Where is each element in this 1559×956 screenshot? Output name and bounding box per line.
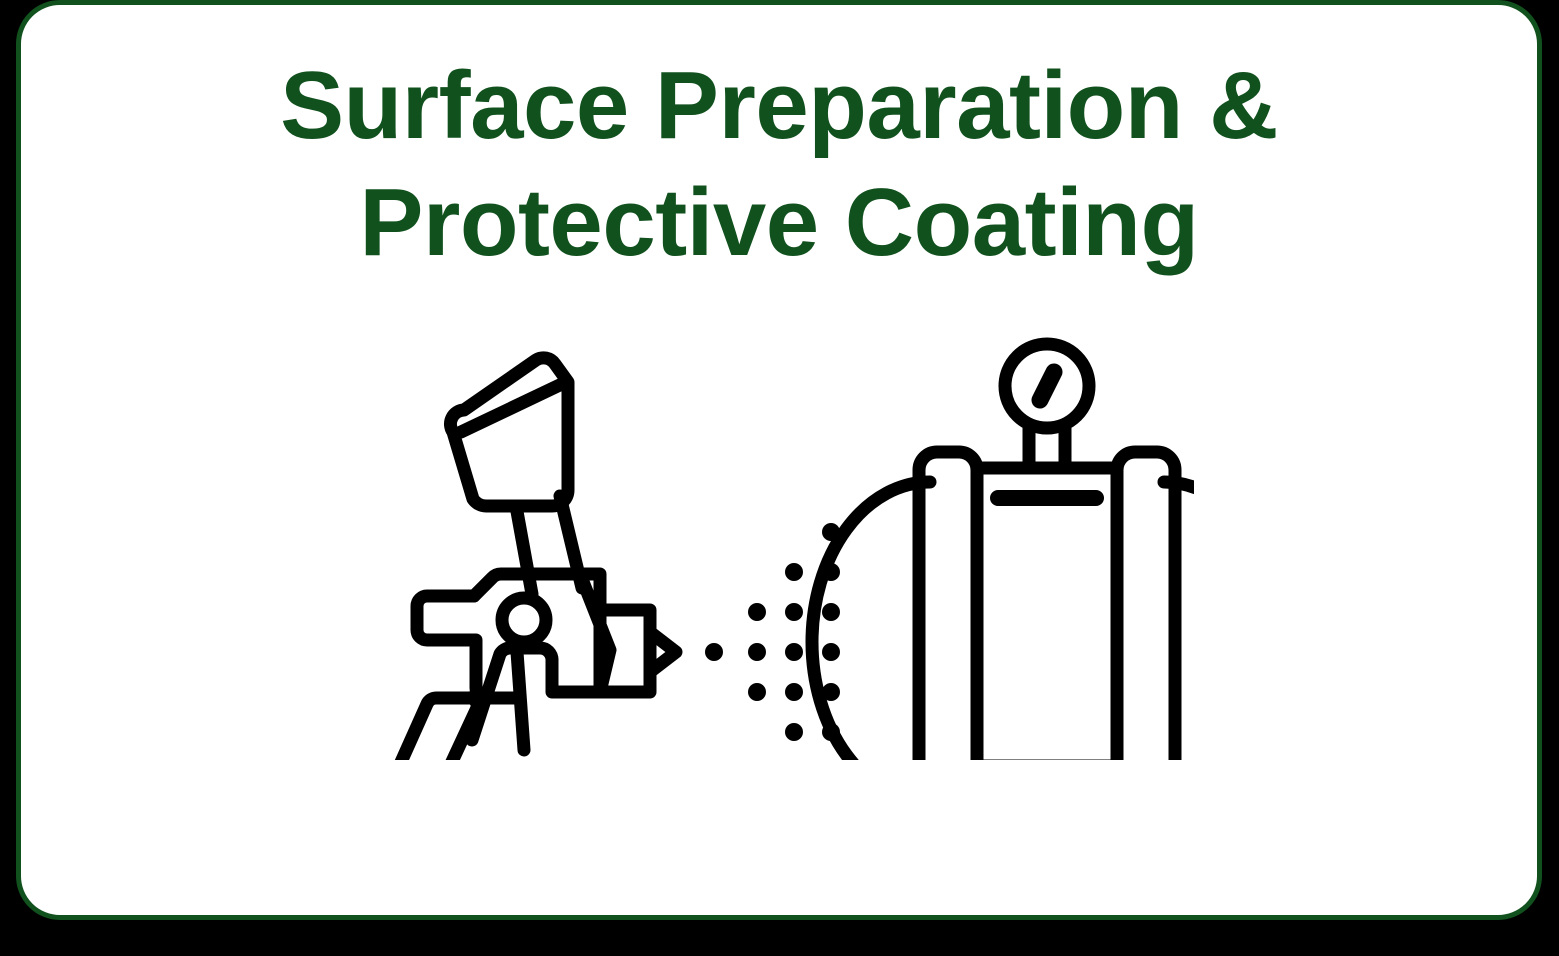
gun-trigger-rod bbox=[517, 652, 524, 750]
spray-dot bbox=[785, 603, 803, 621]
spray-dot bbox=[822, 603, 840, 621]
illustration-container bbox=[21, 305, 1537, 775]
screenshot-canvas: Surface Preparation & Protective Coating bbox=[0, 0, 1559, 956]
card-title: Surface Preparation & Protective Coating bbox=[21, 47, 1537, 281]
gauge-needle bbox=[1040, 372, 1054, 400]
tank-right-band bbox=[1117, 452, 1175, 760]
spray-dot bbox=[785, 563, 803, 581]
spray-dot bbox=[748, 603, 766, 621]
spray-mist-icon bbox=[705, 523, 840, 760]
spray-dot bbox=[785, 723, 803, 741]
spray-dot bbox=[705, 643, 723, 661]
spray-dot bbox=[748, 643, 766, 661]
gun-handle bbox=[375, 698, 477, 760]
tank-body bbox=[977, 468, 1117, 760]
spray-dot bbox=[822, 643, 840, 661]
gun-adjuster-knob bbox=[502, 598, 546, 642]
spray-dot bbox=[748, 683, 766, 701]
pressure-gauge-icon bbox=[1005, 344, 1089, 428]
spray-dot bbox=[785, 683, 803, 701]
spray-gun-compressor-illustration bbox=[364, 320, 1194, 760]
spray-dot bbox=[785, 643, 803, 661]
spray-gun-group bbox=[375, 358, 676, 760]
air-compressor-tank-group bbox=[812, 344, 1194, 760]
paint-cup-neck-left bbox=[516, 506, 532, 594]
paint-cup-icon bbox=[450, 358, 568, 506]
tank-left-band bbox=[919, 452, 977, 760]
service-card[interactable]: Surface Preparation & Protective Coating bbox=[16, 0, 1542, 920]
